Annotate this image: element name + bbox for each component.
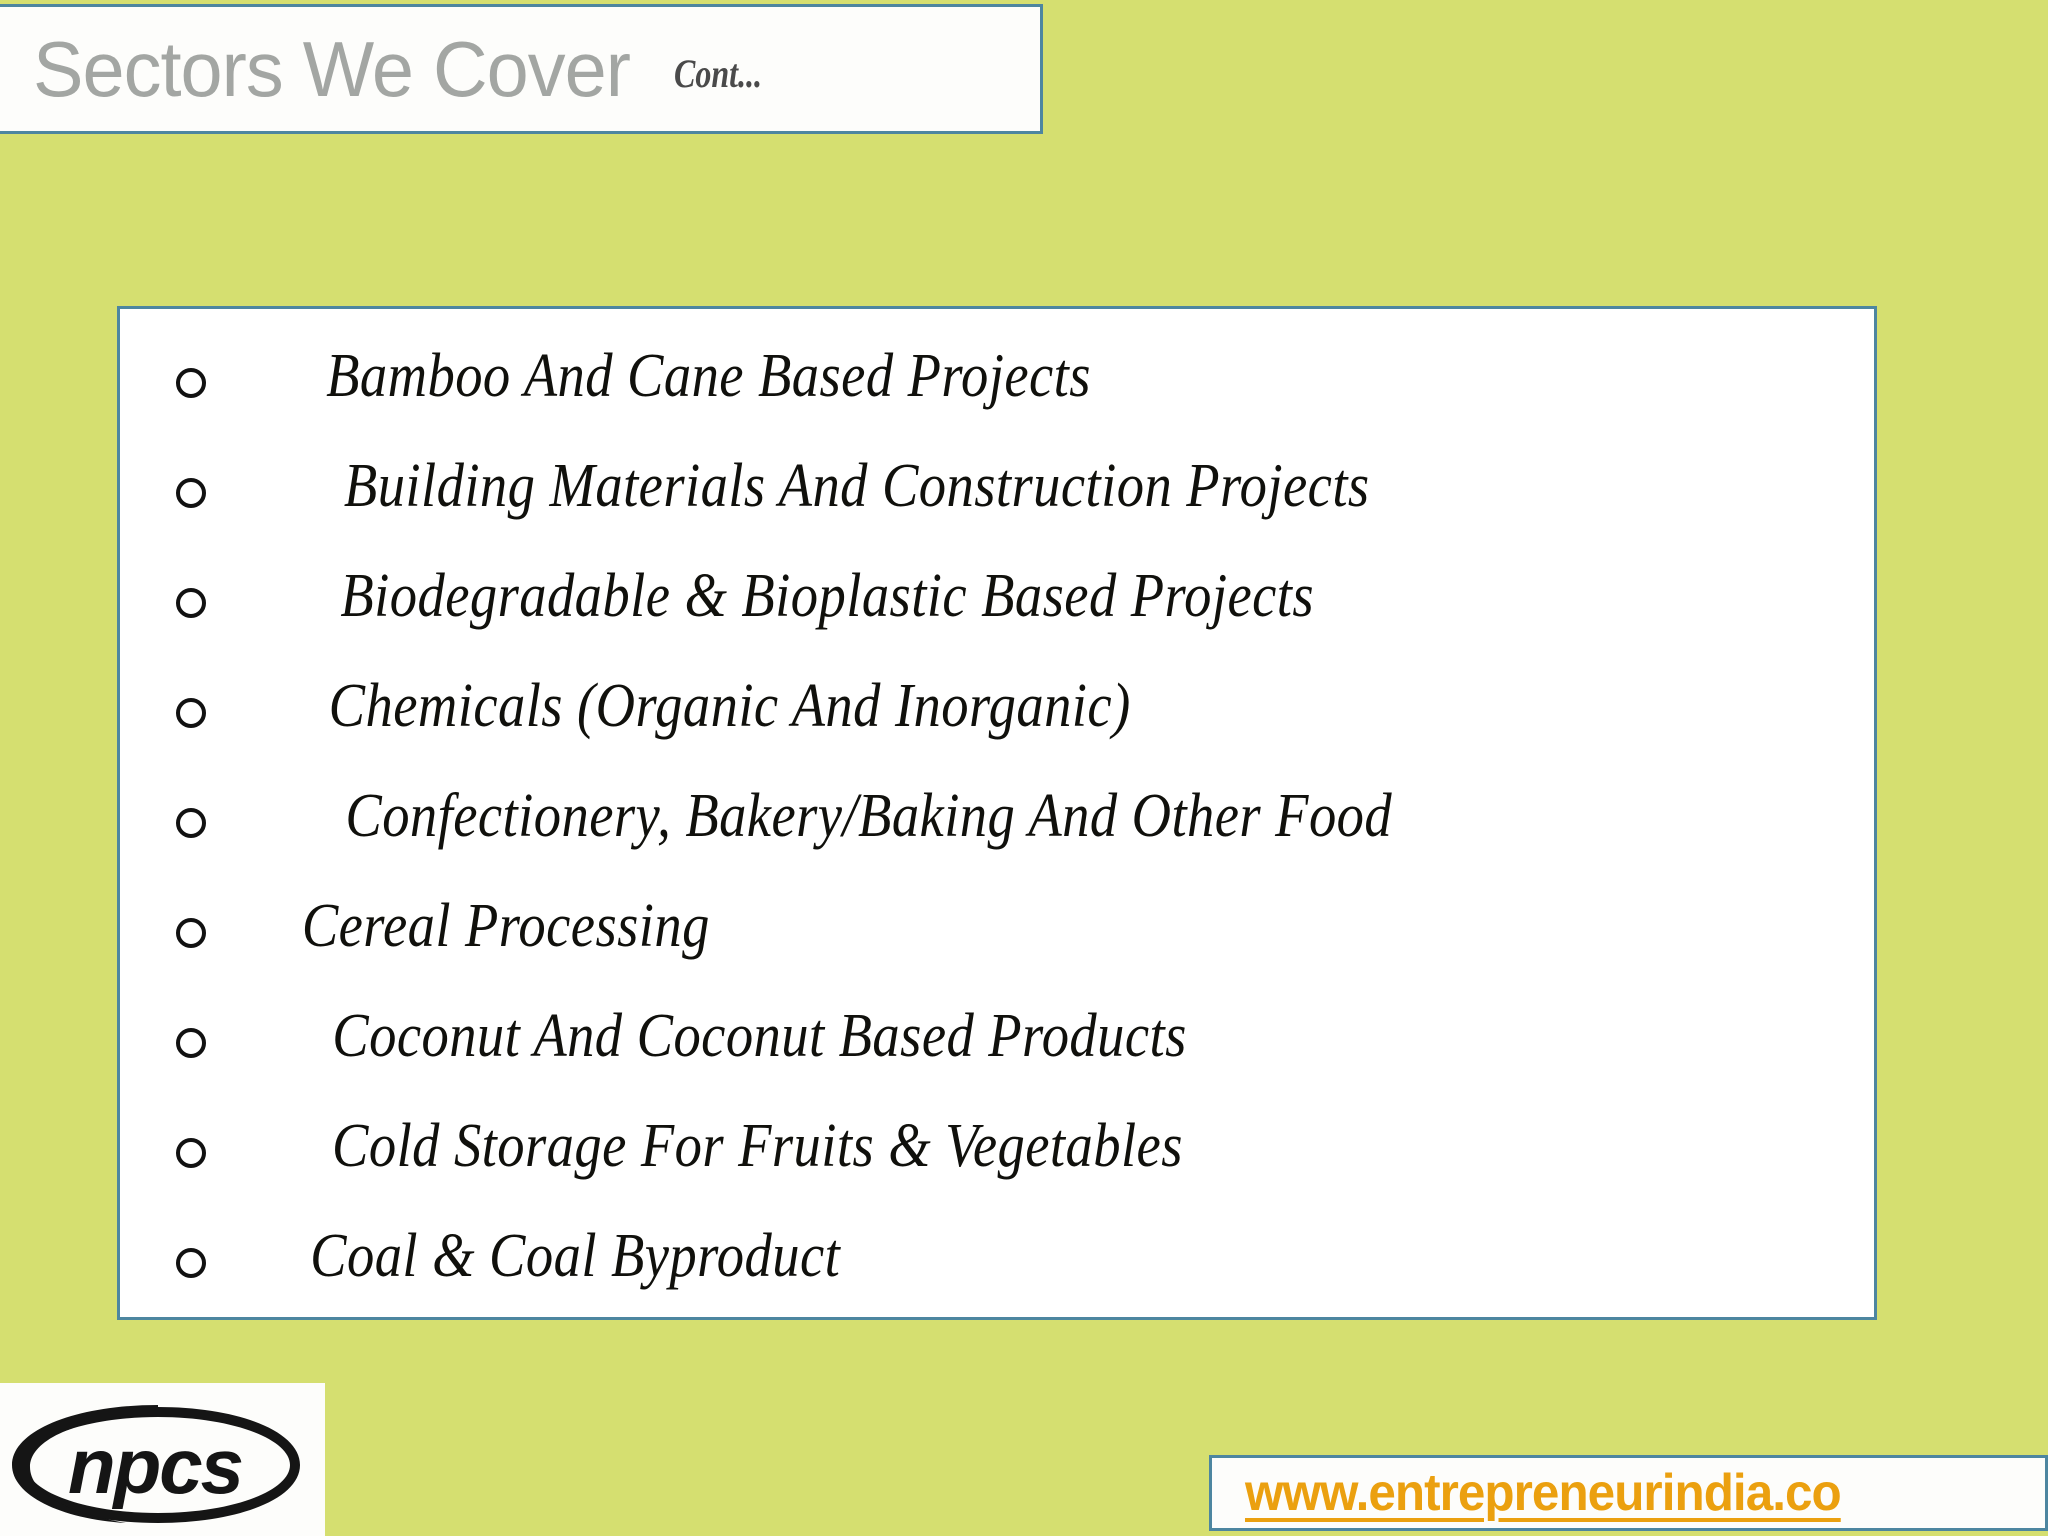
list-item[interactable]: Cereal Processing bbox=[120, 895, 1874, 1005]
list-item-label: Biodegradable & Bioplastic Based Project… bbox=[340, 565, 1314, 627]
circle-outline-icon bbox=[120, 365, 206, 403]
list-item-label: Cold Storage For Fruits & Vegetables bbox=[332, 1115, 1183, 1177]
list-item[interactable]: Cold Storage For Fruits & Vegetables bbox=[120, 1115, 1874, 1225]
website-url-link[interactable]: www.entrepreneurindia.co bbox=[1245, 1463, 1841, 1523]
list-item[interactable]: Biodegradable & Bioplastic Based Project… bbox=[120, 565, 1874, 675]
circle-outline-icon bbox=[120, 805, 206, 843]
list-item-label: Coconut And Coconut Based Products bbox=[332, 1005, 1187, 1067]
list-item-label: Confectionery, Bakery/Baking And Other F… bbox=[345, 785, 1392, 847]
list-item[interactable]: Bamboo And Cane Based Projects bbox=[120, 345, 1874, 455]
title-continuation-label: Cont... bbox=[674, 50, 762, 97]
list-item[interactable]: Building Materials And Construction Proj… bbox=[120, 455, 1874, 565]
circle-outline-icon bbox=[120, 915, 206, 953]
list-item[interactable]: Chemicals (Organic And Inorganic) bbox=[120, 675, 1874, 785]
npcs-logo-icon: npcs bbox=[8, 1401, 318, 1529]
svg-text:npcs: npcs bbox=[68, 1422, 242, 1510]
circle-outline-icon bbox=[120, 695, 206, 733]
circle-outline-icon bbox=[120, 475, 206, 513]
list-item-label: Cereal Processing bbox=[302, 895, 710, 957]
website-url-box[interactable]: www.entrepreneurindia.co bbox=[1209, 1455, 2048, 1531]
sectors-list: Bamboo And Cane Based Projects Building … bbox=[120, 345, 1874, 1335]
circle-outline-icon bbox=[120, 1245, 206, 1283]
slide-canvas: Sectors We Cover Cont... Bamboo And Cane… bbox=[0, 0, 2048, 1536]
list-item[interactable]: Confectionery, Bakery/Baking And Other F… bbox=[120, 785, 1874, 895]
list-item-label: Chemicals (Organic And Inorganic) bbox=[329, 675, 1131, 737]
page-title: Sectors We Cover bbox=[33, 30, 630, 108]
circle-outline-icon bbox=[120, 1135, 206, 1173]
npcs-logo: npcs bbox=[0, 1383, 325, 1536]
sectors-content-panel: Bamboo And Cane Based Projects Building … bbox=[117, 306, 1877, 1320]
circle-outline-icon bbox=[120, 585, 206, 623]
slide-title-box: Sectors We Cover Cont... bbox=[0, 4, 1043, 134]
list-item-label: Coal & Coal Byproduct bbox=[310, 1225, 840, 1287]
list-item[interactable]: Coal & Coal Byproduct bbox=[120, 1225, 1874, 1335]
list-item-label: Bamboo And Cane Based Projects bbox=[326, 345, 1091, 407]
list-item[interactable]: Coconut And Coconut Based Products bbox=[120, 1005, 1874, 1115]
list-item-label: Building Materials And Construction Proj… bbox=[344, 455, 1370, 517]
circle-outline-icon bbox=[120, 1025, 206, 1063]
